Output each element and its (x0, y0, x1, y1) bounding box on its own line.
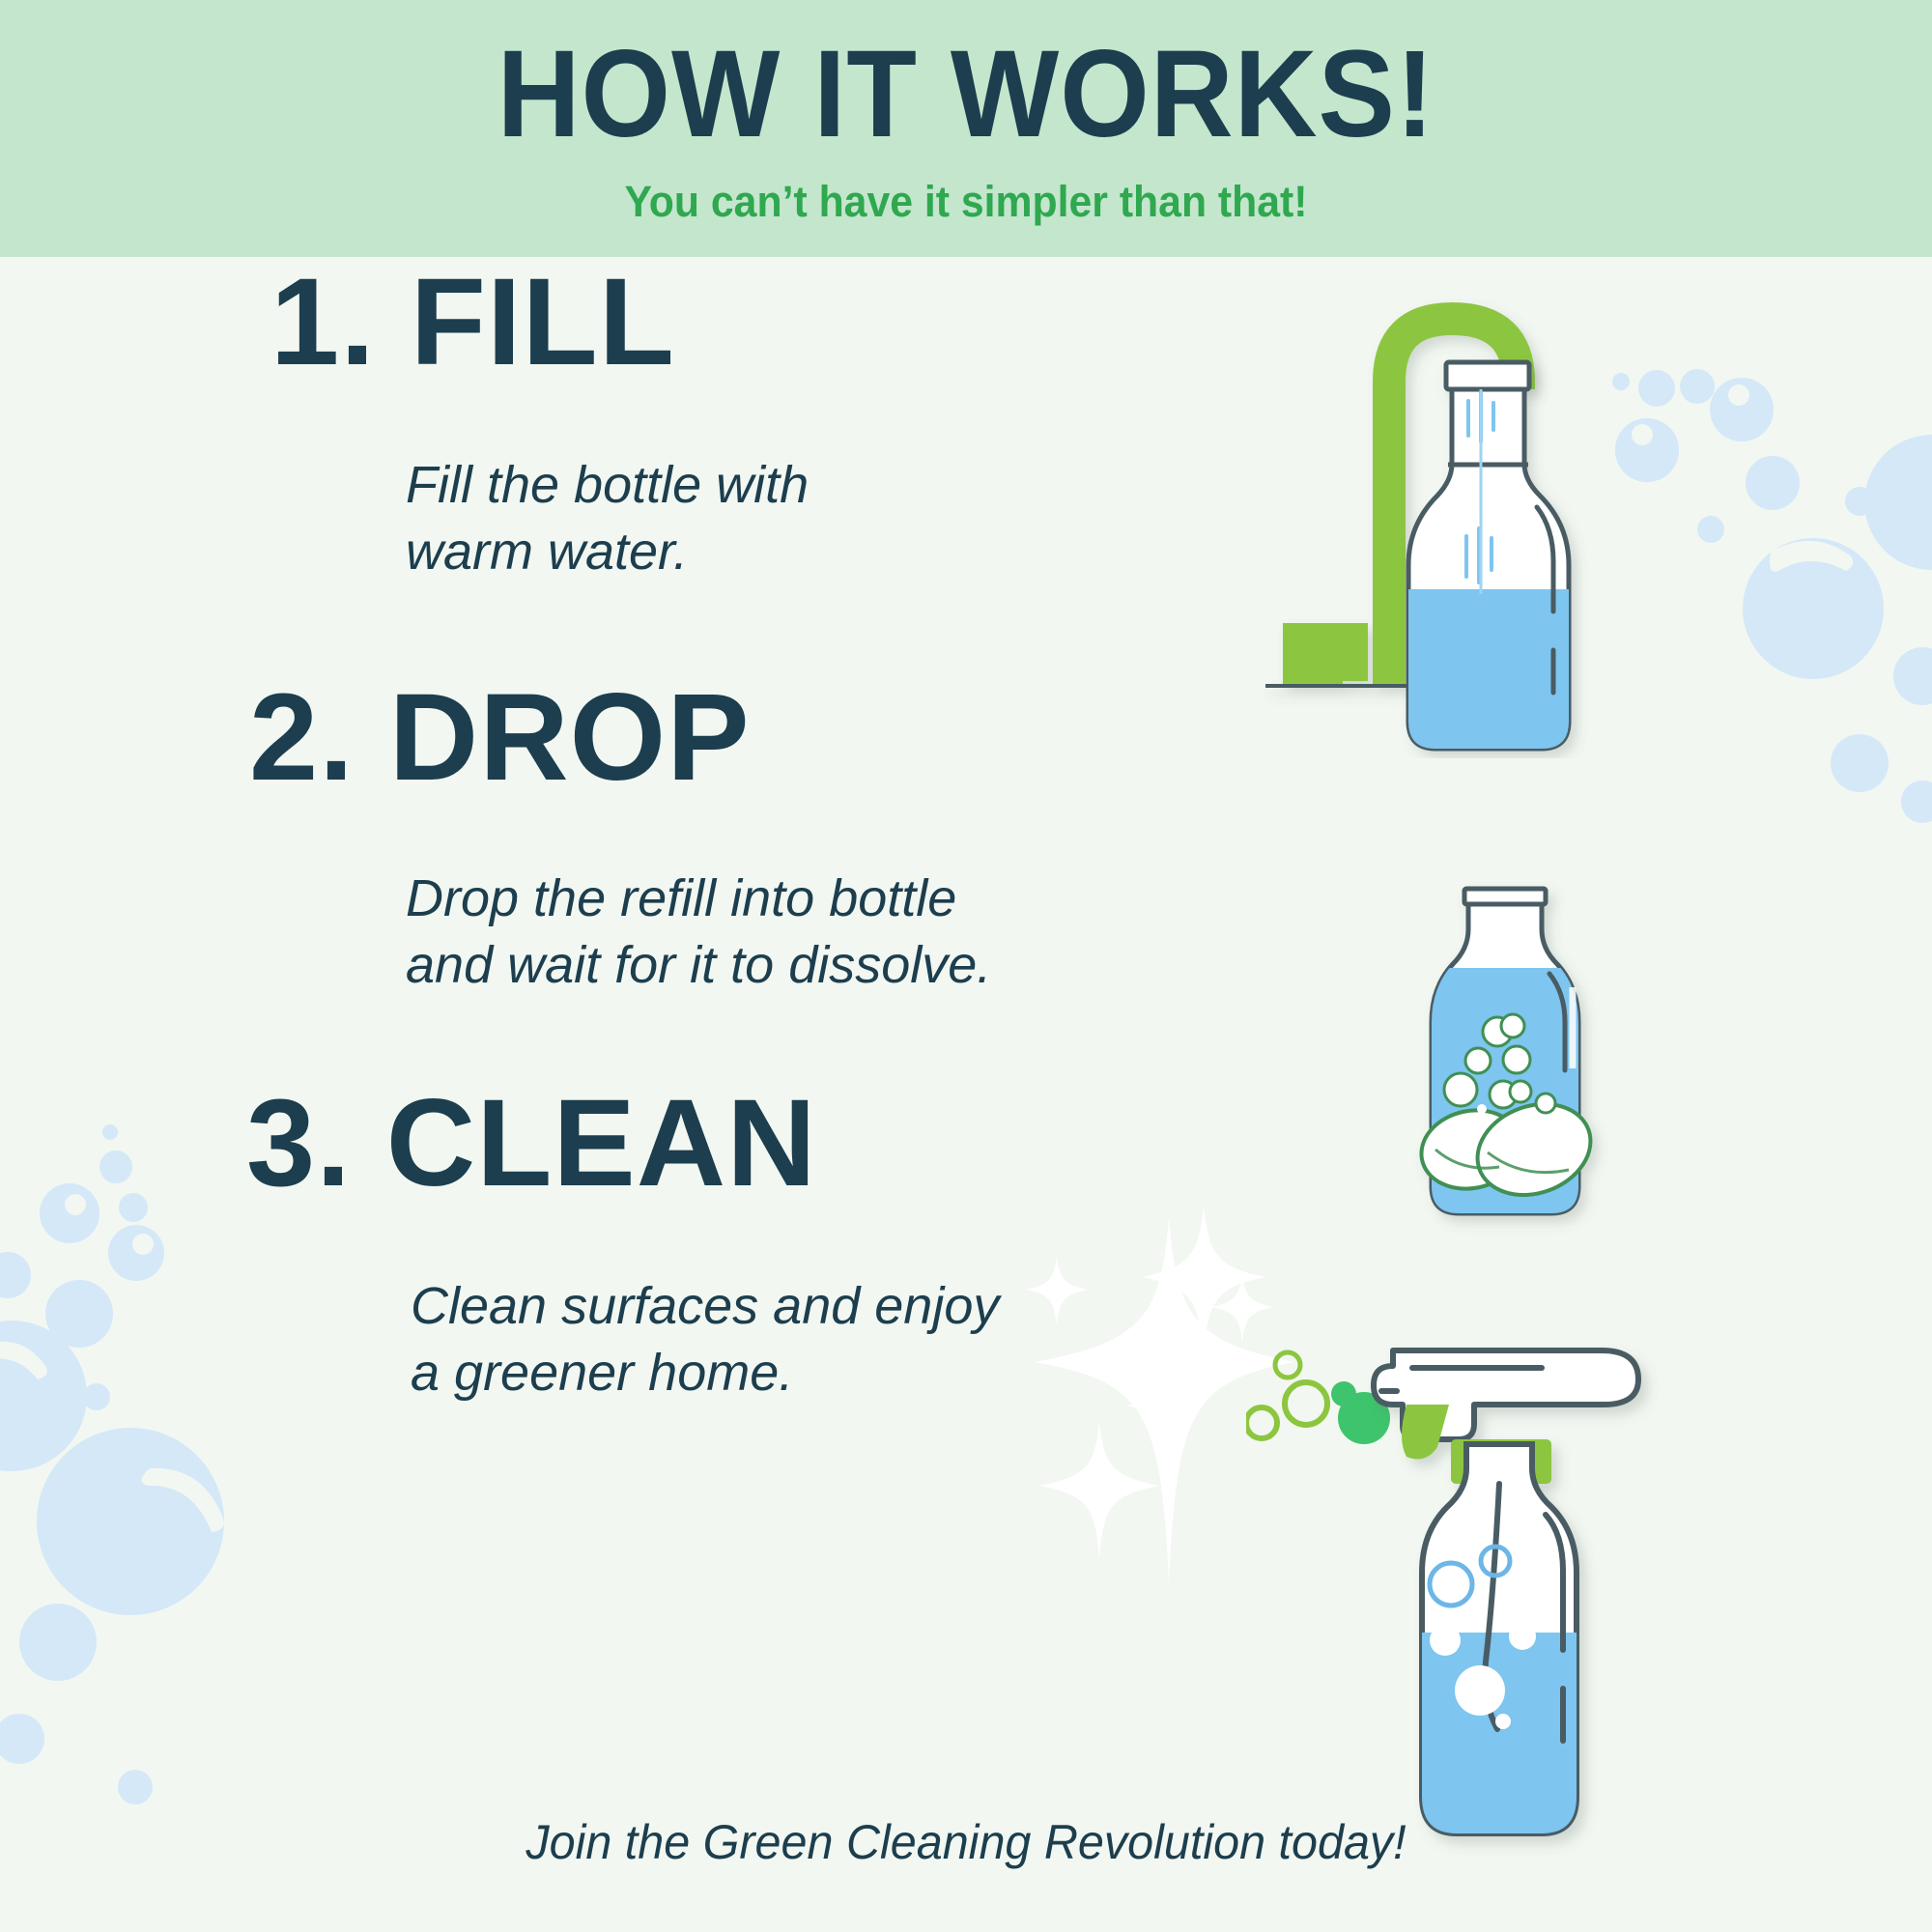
step-2-description: Drop the refill into bottle and wait for… (406, 866, 991, 999)
bottle-with-tablets-icon (1379, 860, 1640, 1236)
step-3-number: 3. (246, 1082, 352, 1206)
step-3-title: CLEAN (386, 1074, 817, 1212)
step-2-heading: 2.DROP (249, 676, 991, 800)
step-drop: 2.DROP Drop the refill into bottle and w… (249, 676, 991, 999)
spray-bottle-icon (1352, 1343, 1662, 1864)
footer-tagline: Join the Green Cleaning Revolution today… (29, 1814, 1903, 1870)
step-3-heading: 3.CLEAN (246, 1082, 999, 1206)
header-band: HOW IT WORKS! You can’t have it simpler … (0, 0, 1932, 257)
step-2-title: DROP (389, 668, 751, 807)
infographic-poster: HOW IT WORKS! You can’t have it simpler … (0, 0, 1932, 1932)
step-clean: 3.CLEAN Clean surfaces and enjoy a green… (246, 1082, 999, 1406)
step-2-number: 2. (249, 676, 355, 800)
step-1-heading: 1.FILL (270, 261, 809, 384)
page-subtitle: You can’t have it simpler than that! (48, 180, 1884, 223)
step-fill: 1.FILL Fill the bottle with warm water. (270, 261, 809, 585)
page-title: HOW IT WORKS! (68, 33, 1864, 156)
step-3-description: Clean surfaces and enjoy a greener home. (411, 1273, 999, 1406)
faucet-filling-bottle-icon (1246, 275, 1662, 758)
step-1-number: 1. (270, 261, 376, 384)
step-1-description: Fill the bottle with warm water. (406, 452, 809, 585)
step-1-title: FILL (411, 253, 675, 391)
